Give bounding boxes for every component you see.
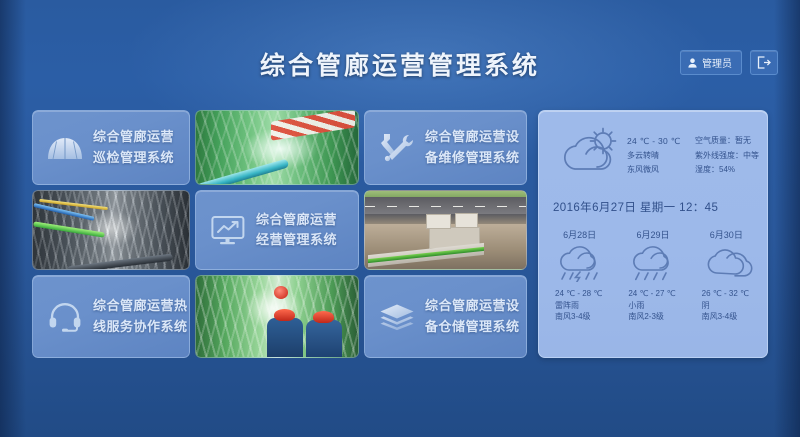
person-icon: [688, 58, 697, 68]
worker-right-shape: [306, 320, 342, 357]
forecast-wind: 南风3-4级: [702, 311, 749, 323]
tile-label: 综合管廊运营 经营管理系统: [256, 210, 337, 250]
forecast-temp-range: 24 ℃ - 28 ℃: [555, 288, 602, 300]
tile-label-line2: 备维修管理系统: [425, 150, 520, 165]
forecast-text: 26 ℃ - 32 ℃ 阴 南风3-4级: [690, 288, 749, 323]
forecast-wind: 南风2-3级: [628, 311, 675, 323]
cloudy-icon: [698, 245, 754, 283]
rain-icon: [625, 245, 681, 283]
module-grid: 综合管廊运营 巡检管理系统: [32, 110, 527, 358]
admin-user-button[interactable]: 管理员: [680, 50, 742, 75]
module-tile-equipment-repair[interactable]: 综合管廊运营设 备维修管理系统: [364, 110, 527, 185]
green-pipe-shape: [33, 221, 105, 237]
forecast-text: 24 ℃ - 27 ℃ 小雨 南风2-3级: [616, 288, 675, 323]
forecast-date: 6月29日: [636, 228, 669, 241]
tile-label-line2: 线服务协作系统: [93, 319, 188, 334]
tile-label-line1: 综合管廊运营: [93, 129, 174, 144]
uv-index: 紫外线强度：中等: [695, 152, 773, 160]
current-left-column: 24 ℃ - 30 ℃ 多云转晴 东风微风: [627, 137, 689, 175]
tile-body[interactable]: 综合管廊运营 巡检管理系统: [32, 110, 190, 185]
module-photo-road-cutaway[interactable]: [364, 190, 527, 270]
app-header: 综合管廊运营管理系统 管理员: [0, 0, 800, 100]
forecast-wind: 南风3-4级: [555, 311, 602, 323]
tile-label-line2: 备仓储管理系统: [425, 319, 520, 334]
module-photo-green-tunnel[interactable]: [195, 110, 359, 185]
forecast-condition: 阴: [702, 300, 749, 312]
road-cutaway-corridor-photo: [364, 190, 527, 270]
logout-icon: [757, 56, 771, 69]
worker-left-shape: [267, 318, 303, 357]
tile-label: 综合管廊运营 巡检管理系统: [93, 127, 174, 167]
tile-label-line1: 综合管廊运营: [256, 212, 337, 227]
access-shaft-left-shape: [426, 214, 451, 228]
current-weather: 24 ℃ - 30 ℃ 多云转晴 东风微风 空气质量：暂无 紫外线强度：中等 湿…: [539, 111, 767, 185]
wrench-screwdriver-icon: [377, 128, 417, 168]
current-wind: 东风微风: [627, 166, 689, 174]
forecast-temp-range: 24 ℃ - 27 ℃: [628, 288, 675, 300]
sun-behind-cloud-icon: [549, 123, 627, 185]
forecast-day: 6月29日 24 ℃ - 27 ℃ 小雨 南风2-3级: [616, 228, 689, 323]
dark-pipe-shape: [67, 254, 173, 270]
module-photo-workers[interactable]: [195, 275, 359, 358]
helmet-left-shape: [274, 309, 295, 321]
monitor-chart-icon: [208, 210, 248, 250]
tile-label: 综合管廊运营设 备维修管理系统: [425, 127, 520, 167]
tile-body[interactable]: 综合管廊运营 经营管理系统: [195, 190, 359, 270]
helmet-right-shape: [313, 311, 334, 323]
current-weather-details: 24 ℃ - 30 ℃ 多云转晴 东风微风 空气质量：暂无 紫外线强度：中等 湿…: [627, 133, 773, 175]
admin-user-label: 管理员: [702, 55, 732, 70]
forecast-day: 6月30日 26 ℃ - 32 ℃ 阴 南风3-4级: [690, 228, 763, 323]
app-screen: 综合管廊运营管理系统 管理员: [0, 0, 800, 437]
tile-body[interactable]: 综合管廊运营热 线服务协作系统: [32, 275, 190, 358]
tile-body[interactable]: 综合管廊运营设 备仓储管理系统: [364, 275, 527, 358]
workers-green-tunnel-photo: [195, 275, 359, 358]
current-temp-range: 24 ℃ - 30 ℃: [627, 137, 689, 146]
current-datetime: 2016年6月27日 星期一 12：45: [539, 185, 767, 215]
cyan-pipe-shape: [195, 158, 289, 185]
module-tile-business-management[interactable]: 综合管廊运营 经营管理系统: [195, 190, 359, 270]
green-utility-tunnel-photo: [195, 110, 359, 185]
tile-label-line1: 综合管廊运营设: [425, 298, 520, 313]
headset-icon: [45, 297, 85, 337]
tile-label-line2: 巡检管理系统: [93, 150, 174, 165]
forecast-condition: 小雨: [628, 300, 675, 312]
humidity: 湿度：54%: [695, 166, 773, 174]
current-condition: 多云转晴: [627, 152, 689, 160]
tunnel-arch-icon: [45, 128, 85, 168]
tile-label: 综合管廊运营热 线服务协作系统: [93, 296, 188, 336]
weather-panel: 24 ℃ - 30 ℃ 多云转晴 东风微风 空气质量：暂无 紫外线强度：中等 湿…: [538, 110, 768, 358]
forecast-list: 6月28日 24 ℃ - 28 ℃ 雷阵雨 南风3-4级: [539, 228, 767, 323]
forecast-day: 6月28日 24 ℃ - 28 ℃ 雷阵雨 南风3-4级: [543, 228, 616, 323]
module-tile-inspection[interactable]: 综合管廊运营 巡检管理系统: [32, 110, 190, 185]
air-quality: 空气质量：暂无: [695, 137, 773, 145]
user-area: 管理员: [680, 50, 778, 75]
road-strip-shape: [365, 197, 526, 214]
current-right-column: 空气质量：暂无 紫外线强度：中等 湿度：54%: [695, 137, 773, 175]
thunderstorm-icon: [552, 245, 608, 283]
layers-stack-icon: [377, 297, 417, 337]
module-tile-hotline-service[interactable]: 综合管廊运营热 线服务协作系统: [32, 275, 190, 358]
tile-label: 综合管廊运营设 备仓储管理系统: [425, 296, 520, 336]
tile-label-line2: 经营管理系统: [256, 232, 337, 247]
tile-body[interactable]: 综合管廊运营设 备维修管理系统: [364, 110, 527, 185]
red-lamp-shape: [274, 286, 289, 299]
forecast-date: 6月28日: [563, 228, 596, 241]
forecast-condition: 雷阵雨: [555, 300, 602, 312]
tile-label-line1: 综合管廊运营热: [93, 298, 188, 313]
logout-button[interactable]: [750, 50, 778, 75]
tile-label-line1: 综合管廊运营设: [425, 129, 520, 144]
forecast-text: 24 ℃ - 28 ℃ 雷阵雨 南风3-4级: [543, 288, 602, 323]
forecast-temp-range: 26 ℃ - 32 ℃: [702, 288, 749, 300]
module-tile-equipment-warehouse[interactable]: 综合管廊运营设 备仓储管理系统: [364, 275, 527, 358]
access-shaft-right-shape: [455, 213, 478, 228]
forecast-date: 6月30日: [710, 228, 743, 241]
grey-corridor-pipes-photo: [32, 190, 190, 270]
module-photo-grey-corridor[interactable]: [32, 190, 190, 270]
